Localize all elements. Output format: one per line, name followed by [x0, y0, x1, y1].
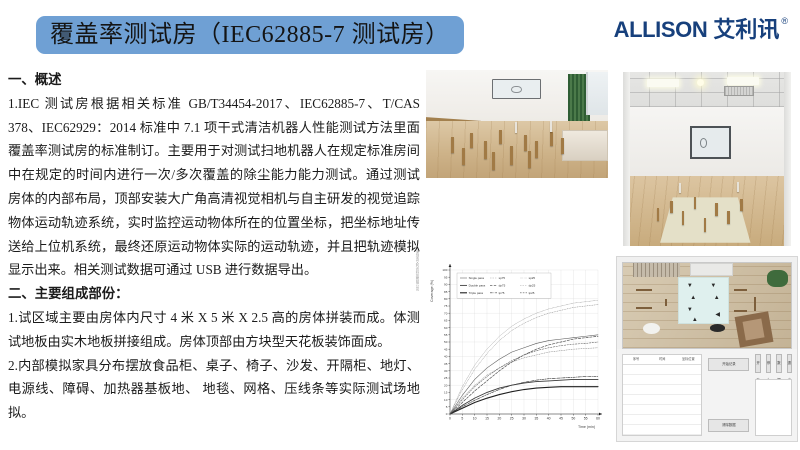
path-arrow-icon: ▲: [714, 295, 720, 301]
svg-text:100: 100: [442, 268, 447, 272]
chart-legend-label: Triple pass: [469, 291, 484, 295]
page-title-banner: 覆盖率测试房（IEC62885-7 测试房）: [36, 16, 464, 54]
clear-data-button[interactable]: 清除数据: [708, 419, 749, 432]
section-heading-components: 二、主要组成部份：: [8, 282, 420, 306]
shelf-obstacle: [633, 263, 680, 277]
logo-chinese-name: 艾利讯: [713, 18, 779, 42]
wall-panel: [492, 79, 541, 99]
svg-text:30: 30: [522, 416, 526, 420]
obstacle-peg: [682, 211, 685, 225]
svg-text:40: 40: [444, 355, 448, 359]
chart-legend-label: Single pass: [469, 276, 485, 280]
obstacle-bar: [636, 289, 651, 291]
chair-obstacle: [735, 311, 773, 347]
svg-text:80: 80: [444, 297, 448, 301]
ceiling-tiles: [623, 72, 790, 107]
svg-text:35: 35: [444, 362, 448, 366]
obstacle-peg: [510, 146, 513, 165]
overhead-camera-view: ▼ ▼ ▲ ▲ ▼ ◀ ▲: [622, 262, 792, 349]
window: [586, 72, 608, 115]
path-arrow-icon: ▼: [687, 307, 693, 313]
path-arrow-icon: ▲: [692, 317, 698, 323]
chart-legend-label: tp25: [529, 291, 535, 295]
photo-room-overview: [616, 70, 798, 248]
body-text-column: 一、概述 1.IEC 测试房根据相关标准 GB/T34454-2017、IEC6…: [8, 68, 420, 446]
table-col-time: 时间: [649, 355, 675, 364]
slide-header: 覆盖率测试房（IEC62885-7 测试房） ALLISON 艾利讯 ®: [0, 0, 800, 66]
table-row[interactable]: [623, 425, 701, 435]
svg-text:20: 20: [497, 416, 501, 420]
table-row[interactable]: [623, 405, 701, 415]
obstacle-peg: [492, 152, 495, 170]
svg-text:5: 5: [446, 405, 448, 409]
action-area: 开始测试 停止测试 数据导出 退出: [755, 354, 792, 436]
obstacle-peg: [524, 135, 527, 151]
svg-text:85: 85: [444, 290, 448, 294]
photo-room-overview-image: [616, 70, 798, 248]
page-title: 覆盖率测试房（IEC62885-7 测试房）: [50, 23, 450, 47]
svg-text:75: 75: [444, 304, 448, 308]
white-box-obstacle: [562, 130, 608, 160]
obstacle-peg: [704, 218, 707, 232]
start-record-button[interactable]: 开始记录: [708, 358, 749, 371]
table-row[interactable]: [623, 415, 701, 425]
path-arrow-icon: ▲: [690, 295, 696, 301]
pendant-lamp: [697, 79, 704, 86]
obstacle-bar: [734, 310, 747, 312]
export-data-button[interactable]: 数据导出: [776, 354, 781, 373]
obstacle-peg: [694, 197, 697, 209]
table-row[interactable]: [623, 395, 701, 405]
table-header-row: 序号 时间 坐标位置: [623, 355, 701, 365]
svg-text:15: 15: [444, 391, 448, 395]
obstacle-peg: [462, 148, 465, 165]
company-logo: ALLISON 艾利讯 ®: [614, 18, 788, 52]
svg-text:40: 40: [547, 416, 551, 420]
chart-legend-label: Double pass: [469, 284, 486, 288]
chart-legend-label: sp75: [499, 276, 506, 280]
svg-text:10: 10: [473, 416, 477, 420]
stop-test-button[interactable]: 停止测试: [766, 354, 771, 373]
coverage-chart-svg: 0510152025303540455055600510152025303540…: [426, 256, 608, 442]
svg-text:25: 25: [444, 376, 448, 380]
svg-text:55: 55: [584, 416, 588, 420]
obstacle-peg: [670, 201, 673, 213]
plant-obstacle: [767, 270, 787, 287]
svg-text:10: 10: [444, 398, 448, 402]
obstacle-peg: [727, 211, 730, 224]
registered-trademark-icon: ®: [781, 16, 788, 26]
obstacle-peg: [550, 132, 553, 146]
tracking-software-screenshot: ▼ ▼ ▲ ▲ ▼ ◀ ▲ 序号 时间 坐标位置: [616, 256, 798, 442]
paragraph-furniture: 2.内部模拟家具分布摆放食品柜、桌子、椅子、沙发、开隔柜、地灯、电源线、障碍、加…: [8, 354, 420, 425]
obstacle-peg: [484, 141, 487, 159]
ceiling-vent: [724, 86, 754, 97]
obstacle-peg: [535, 141, 538, 158]
door-frame-left: [623, 72, 630, 246]
path-arrow-icon: ◀: [715, 312, 720, 318]
svg-text:20: 20: [444, 383, 448, 387]
obstacle-peg: [561, 138, 564, 154]
svg-text:5: 5: [461, 416, 463, 420]
svg-text:15: 15: [485, 416, 489, 420]
obstacle-bar: [754, 297, 756, 311]
paragraph-structure: 1.试区域主要由房体内尺寸 4 米 X 5 米 X 2.5 高的房体拼装而成。体…: [8, 306, 420, 354]
table-col-position: 坐标位置: [675, 355, 701, 364]
svg-text:95: 95: [444, 275, 448, 279]
obstacle-bar: [734, 289, 747, 291]
chart-legend-label: dp25: [529, 284, 536, 288]
coverage-chart-figure: 0510152025303540455055600510152025303540…: [426, 256, 608, 442]
photo-room-floor: [426, 70, 608, 178]
path-arrow-icon: ▼: [687, 283, 693, 289]
svg-text:0: 0: [446, 412, 448, 416]
obstacle-peg: [470, 133, 473, 148]
paragraph-overview: 1.IEC 测试房根据相关标准 GB/T34454-2017、IEC62885-…: [8, 92, 420, 282]
obstacle-peg: [737, 182, 739, 192]
white-cabinet: [690, 263, 732, 276]
chart-legend-label: tp75: [499, 291, 505, 295]
svg-text:35: 35: [534, 416, 538, 420]
exit-button[interactable]: 退出: [787, 354, 792, 373]
table-row[interactable]: [623, 385, 701, 395]
obstacle-peg: [515, 122, 517, 133]
obstacle-peg: [451, 137, 454, 153]
svg-text:45: 45: [559, 416, 563, 420]
chart-ylabel: Coverage (%): [430, 280, 434, 302]
obstacle-peg: [550, 121, 552, 132]
table-row[interactable]: [623, 365, 701, 375]
svg-text:70: 70: [444, 311, 448, 315]
media-grid: 0510152025303540455055600510152025303540…: [426, 70, 798, 442]
obstacle-peg: [657, 208, 660, 221]
svg-text:60: 60: [596, 416, 600, 420]
path-arrow-icon: ▼: [710, 283, 716, 289]
table-col-index: 序号: [623, 355, 649, 364]
obstacle-peg: [715, 203, 718, 216]
svg-text:25: 25: [510, 416, 514, 420]
obstacle-bar: [665, 299, 667, 307]
chart-legend: Single passsp75sp25Double passdp75dp25Tr…: [457, 273, 551, 298]
obstacle-bar: [636, 307, 651, 309]
svg-text:50: 50: [571, 416, 575, 420]
obstacle-peg: [528, 151, 531, 168]
svg-text:45: 45: [444, 347, 448, 351]
ceiling-light: [727, 77, 759, 85]
log-output-box[interactable]: [755, 379, 792, 436]
robot-marker: [710, 324, 725, 332]
svg-text:50: 50: [444, 340, 448, 344]
action-buttons-row: 开始测试 停止测试 数据导出 退出: [755, 354, 792, 373]
wall-panel: [690, 126, 731, 160]
svg-text:0: 0: [449, 416, 451, 420]
svg-text:55: 55: [444, 333, 448, 337]
photo-room-floor-image: [426, 70, 608, 178]
svg-text:65: 65: [444, 319, 448, 323]
section-heading-overview: 一、概述: [8, 68, 420, 92]
svg-text:30: 30: [444, 369, 448, 373]
obstacle-peg: [679, 183, 681, 193]
record-buttons-group: 开始记录 清除数据: [708, 354, 749, 436]
table-row[interactable]: [623, 375, 701, 385]
side-watermark: 深圳市艾利讯科技有限公司: [415, 250, 419, 291]
tracking-app-window: ▼ ▼ ▲ ▲ ▼ ◀ ▲ 序号 时间 坐标位置: [616, 256, 798, 442]
chart-xlabel: Time (min): [578, 425, 595, 429]
svg-text:90: 90: [444, 283, 448, 287]
obstacle-peg: [499, 130, 502, 144]
room-interior: [623, 72, 790, 246]
floor-lamp: [643, 323, 660, 334]
ceiling-light: [647, 79, 679, 87]
control-panel: 序号 时间 坐标位置 开始记录 清除数据: [617, 349, 797, 441]
chart-legend-label: sp25: [529, 276, 536, 280]
coordinate-log-table[interactable]: 序号 时间 坐标位置: [622, 354, 702, 436]
door-frame-right: [784, 72, 791, 246]
logo-wordmark: ALLISON: [614, 18, 708, 42]
obstacle-peg: [740, 199, 743, 211]
svg-text:60: 60: [444, 326, 448, 330]
slide: 覆盖率测试房（IEC62885-7 测试房） ALLISON 艾利讯 ® 一、概…: [0, 0, 800, 450]
coverage-chart: 0510152025303540455055600510152025303540…: [426, 256, 608, 442]
chart-legend-label: dp75: [499, 284, 506, 288]
start-test-button[interactable]: 开始测试: [755, 354, 760, 373]
